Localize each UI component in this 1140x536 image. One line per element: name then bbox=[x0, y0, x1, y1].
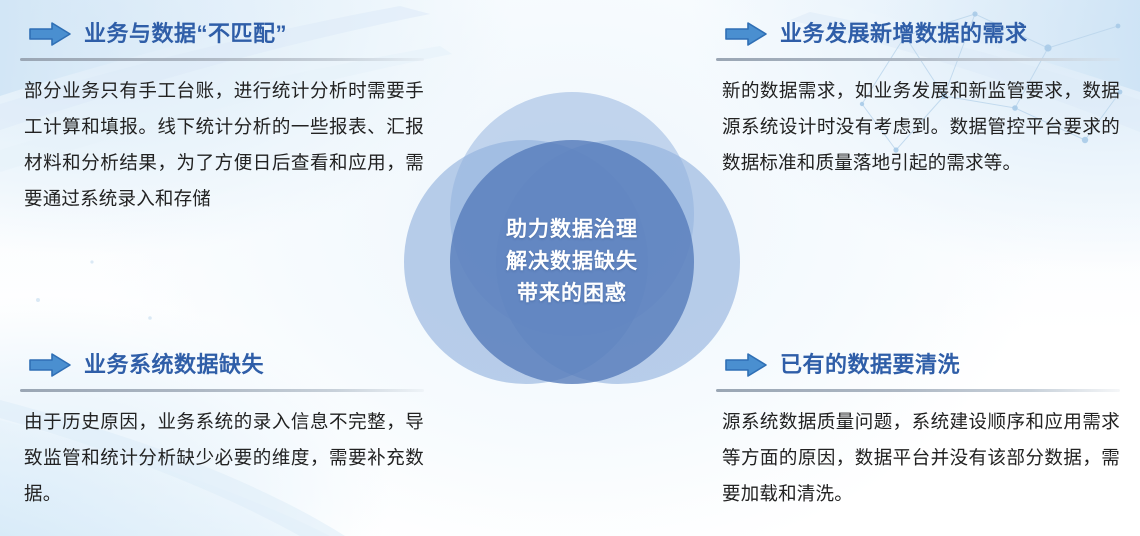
panel-header: 业务与数据“不匹配” bbox=[20, 14, 424, 54]
panel-body-text: 源系统数据质量问题，系统建设顺序和应用需求等方面的原因，数据平台并没有该部分数据… bbox=[716, 405, 1120, 513]
panel-title: 业务发展新增数据的需求 bbox=[780, 23, 1028, 45]
panel-title: 业务与数据“不匹配” bbox=[84, 23, 287, 45]
arrow-right-icon bbox=[724, 352, 768, 378]
panel-divider bbox=[716, 389, 1120, 392]
panel-title: 业务系统数据缺失 bbox=[84, 354, 264, 376]
panel-divider bbox=[20, 389, 424, 392]
center-line-3: 带来的困惑 bbox=[517, 279, 627, 309]
panel-body-text: 由于历史原因，业务系统的录入信息不完整，导致监管和统计分析缺少必要的维度，需要补… bbox=[20, 405, 424, 513]
arrow-right-icon bbox=[28, 352, 72, 378]
center-circle-text: 助力数据治理 解决数据缺失 带来的困惑 bbox=[450, 140, 694, 384]
panel-header: 业务系统数据缺失 bbox=[20, 345, 424, 385]
panel-body-text: 新的数据需求，如业务发展和新监管要求，数据源系统设计时没有考虑到。数据管控平台要… bbox=[716, 74, 1120, 182]
arrow-right-icon bbox=[28, 21, 72, 47]
center-line-2: 解决数据缺失 bbox=[506, 247, 638, 277]
panel-body-text: 部分业务只有手工台账，进行统计分析时需要手工计算和填报。线下统计分析的一些报表、… bbox=[20, 74, 424, 218]
panel-business-system-data-missing: 业务系统数据缺失 由于历史原因，业务系统的录入信息不完整，导致监管和统计分析缺少… bbox=[20, 345, 424, 513]
slide-canvas: 助力数据治理 解决数据缺失 带来的困惑 业务与数据“不匹配” 部分业务只有手工台… bbox=[0, 0, 1140, 536]
panel-existing-data-cleansing: 已有的数据要清洗 源系统数据质量问题，系统建设顺序和应用需求等方面的原因，数据平… bbox=[716, 345, 1120, 513]
panel-divider bbox=[20, 58, 424, 61]
panel-title: 已有的数据要清洗 bbox=[780, 354, 960, 376]
panel-header: 已有的数据要清洗 bbox=[716, 345, 1120, 385]
panel-new-data-demand: 业务发展新增数据的需求 新的数据需求，如业务发展和新监管要求，数据源系统设计时没… bbox=[716, 14, 1120, 182]
panel-divider bbox=[716, 58, 1120, 61]
arrow-right-icon bbox=[724, 21, 768, 47]
panel-business-data-mismatch: 业务与数据“不匹配” 部分业务只有手工台账，进行统计分析时需要手工计算和填报。线… bbox=[20, 14, 424, 218]
center-line-1: 助力数据治理 bbox=[506, 215, 638, 245]
center-circle-cluster: 助力数据治理 解决数据缺失 带来的困惑 bbox=[404, 92, 740, 428]
panel-header: 业务发展新增数据的需求 bbox=[716, 14, 1120, 54]
